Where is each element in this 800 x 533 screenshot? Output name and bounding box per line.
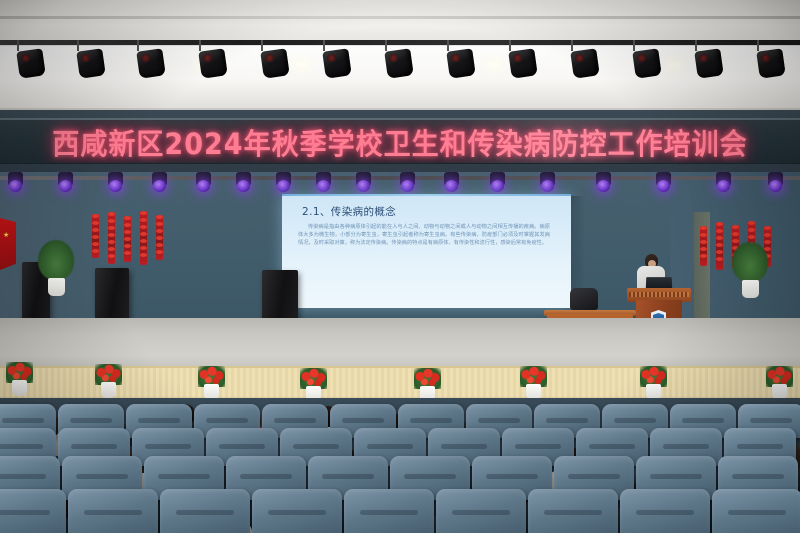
lectern-rail — [629, 292, 689, 297]
garland-bead — [700, 240, 707, 244]
ceiling-seam — [0, 16, 800, 19]
garland-bead — [124, 251, 131, 255]
light-lens — [451, 54, 460, 62]
light-lens — [141, 54, 150, 62]
light-body — [136, 48, 166, 78]
wash-glow — [317, 180, 330, 192]
light-lens — [21, 54, 30, 62]
auditorium-photo: 西咸新区2024年秋季学校卫生和传染病防控工作培训会 2.1、传染病的概念 传染… — [0, 0, 800, 533]
light-body — [198, 48, 228, 78]
garland-bead — [140, 225, 147, 229]
garland-bead — [732, 232, 739, 236]
garland-bead — [108, 247, 115, 251]
garland-bead — [124, 216, 131, 220]
red-flag — [0, 218, 16, 270]
right-pa-speaker — [95, 268, 129, 320]
seat-r3-c1 — [68, 489, 158, 533]
garland-bead — [748, 235, 755, 239]
light-yoke — [757, 40, 759, 51]
light-body — [694, 48, 724, 78]
light-yoke — [509, 40, 511, 51]
garland-bead — [140, 232, 147, 236]
wash-glow — [769, 180, 782, 192]
garland-bead — [716, 257, 723, 261]
light-lens — [699, 54, 708, 62]
light-yoke — [261, 40, 263, 51]
light-yoke — [633, 40, 635, 51]
wash-glow — [277, 180, 290, 192]
garland-bead — [716, 250, 723, 254]
ceiling-downlight-5 — [668, 62, 680, 67]
light-lens — [81, 54, 90, 62]
garland-bead — [156, 250, 163, 254]
light-body — [322, 48, 352, 78]
stage-plant-right-pot — [742, 280, 759, 298]
garland-bead — [124, 230, 131, 234]
wash-glow — [109, 180, 122, 192]
garland-bead — [140, 253, 147, 257]
flower-pot-1 — [101, 382, 116, 398]
light-body — [756, 48, 786, 78]
garland-bead — [748, 221, 755, 225]
flower-pot-0 — [12, 380, 27, 396]
garland-bead — [108, 254, 115, 258]
light-lens — [761, 54, 770, 62]
wash-glow — [445, 180, 458, 192]
garland-bead — [140, 211, 147, 215]
stage-floor — [0, 318, 800, 370]
light-body — [508, 48, 538, 78]
garland-bead — [92, 221, 99, 225]
wash-glow — [541, 180, 554, 192]
wash-glow — [717, 180, 730, 192]
light-lens — [575, 54, 584, 62]
garland-bead — [92, 235, 99, 239]
wash-glow — [597, 180, 610, 192]
garland-bead — [92, 214, 99, 218]
garland-bead — [700, 254, 707, 258]
light-body — [384, 48, 414, 78]
garland-bead — [716, 243, 723, 247]
seat-r3-c8 — [712, 489, 800, 533]
garland-bead — [764, 240, 771, 244]
wash-glow — [357, 180, 370, 192]
light-yoke — [695, 40, 697, 51]
garland-bead — [732, 239, 739, 243]
seat-r3-c0 — [0, 489, 66, 533]
wash-glow — [657, 180, 670, 192]
light-yoke — [199, 40, 201, 51]
garland-bead — [92, 228, 99, 232]
light-lens — [265, 54, 274, 62]
light-lens — [637, 54, 646, 62]
stage-plant-right-foliage — [732, 242, 768, 282]
garland-bead — [156, 215, 163, 219]
garland-bead — [108, 212, 115, 216]
garland-bead — [156, 229, 163, 233]
garland-bead — [140, 246, 147, 250]
slide-body-text: 传染病是指由各种病原体引起的能在人与人之间、动物与动物之间或人与动物之间相互传播… — [298, 223, 550, 247]
ceiling-downlight-1 — [296, 62, 308, 67]
garland-bead — [764, 233, 771, 237]
light-body — [446, 48, 476, 78]
wash-glow — [59, 180, 72, 192]
garland-bead — [92, 249, 99, 253]
light-yoke — [571, 40, 573, 51]
garland-bead — [716, 236, 723, 240]
light-lens — [389, 54, 398, 62]
garland-bead — [124, 237, 131, 241]
seat-r3-c2 — [160, 489, 250, 533]
garland-bead — [92, 242, 99, 246]
wash-glow — [197, 180, 210, 192]
seat-r3-c6 — [528, 489, 618, 533]
wash-glow — [237, 180, 250, 192]
light-yoke — [77, 40, 79, 51]
slide-title: 2.1、传染病的概念 — [302, 204, 396, 219]
light-body — [632, 48, 662, 78]
garland-bead — [764, 226, 771, 230]
light-lens — [203, 54, 212, 62]
garland-bead — [700, 226, 707, 230]
light-yoke — [323, 40, 325, 51]
garland-bead — [156, 222, 163, 226]
garland-bead — [108, 233, 115, 237]
light-yoke — [447, 40, 449, 51]
light-lens — [327, 54, 336, 62]
garland-bead — [140, 218, 147, 222]
light-body — [16, 48, 46, 78]
light-yoke — [137, 40, 139, 51]
garland-bead — [156, 243, 163, 247]
seat-r3-c3 — [252, 489, 342, 533]
garland-bead — [140, 239, 147, 243]
seat-r3-c5 — [436, 489, 526, 533]
garland-bead — [108, 226, 115, 230]
garland-bead — [716, 229, 723, 233]
stage-plant-left-pot — [48, 278, 65, 296]
office-chair — [570, 288, 598, 310]
garland-bead — [124, 223, 131, 227]
garland-bead — [732, 225, 739, 229]
garland-bead — [108, 219, 115, 223]
light-body — [260, 48, 290, 78]
wash-glow — [153, 180, 166, 192]
wash-glow — [401, 180, 414, 192]
light-body — [570, 48, 600, 78]
garland-bead — [124, 244, 131, 248]
light-yoke — [385, 40, 387, 51]
led-banner: 西咸新区2024年秋季学校卫生和传染病防控工作培训会 — [0, 118, 800, 164]
garland-bead — [748, 228, 755, 232]
garland-right-0 — [700, 226, 707, 266]
seat-r3-c7 — [620, 489, 710, 533]
garland-bead — [108, 240, 115, 244]
garland-bead — [700, 247, 707, 251]
light-yoke — [17, 40, 19, 51]
garland-bead — [156, 236, 163, 240]
far-right-pa-speaker — [262, 270, 298, 320]
seat-r3-c4 — [344, 489, 434, 533]
flag-star-icon: ★ — [3, 232, 9, 239]
wash-glow — [491, 180, 504, 192]
light-lens — [513, 54, 522, 62]
ceiling-downlight-3 — [488, 62, 500, 67]
wash-glow — [9, 180, 22, 192]
stage-plant-left-foliage — [38, 240, 74, 280]
garland-bead — [700, 233, 707, 237]
projection-screen: 2.1、传染病的概念 传染病是指由各种病原体引起的能在人与人之间、动物与动物之间… — [282, 196, 571, 308]
banner-text: 西咸新区2024年秋季学校卫生和传染病防控工作培训会 — [52, 120, 747, 162]
lighting-truss-upper — [0, 40, 800, 45]
garland-bead — [716, 222, 723, 226]
light-body — [76, 48, 106, 78]
